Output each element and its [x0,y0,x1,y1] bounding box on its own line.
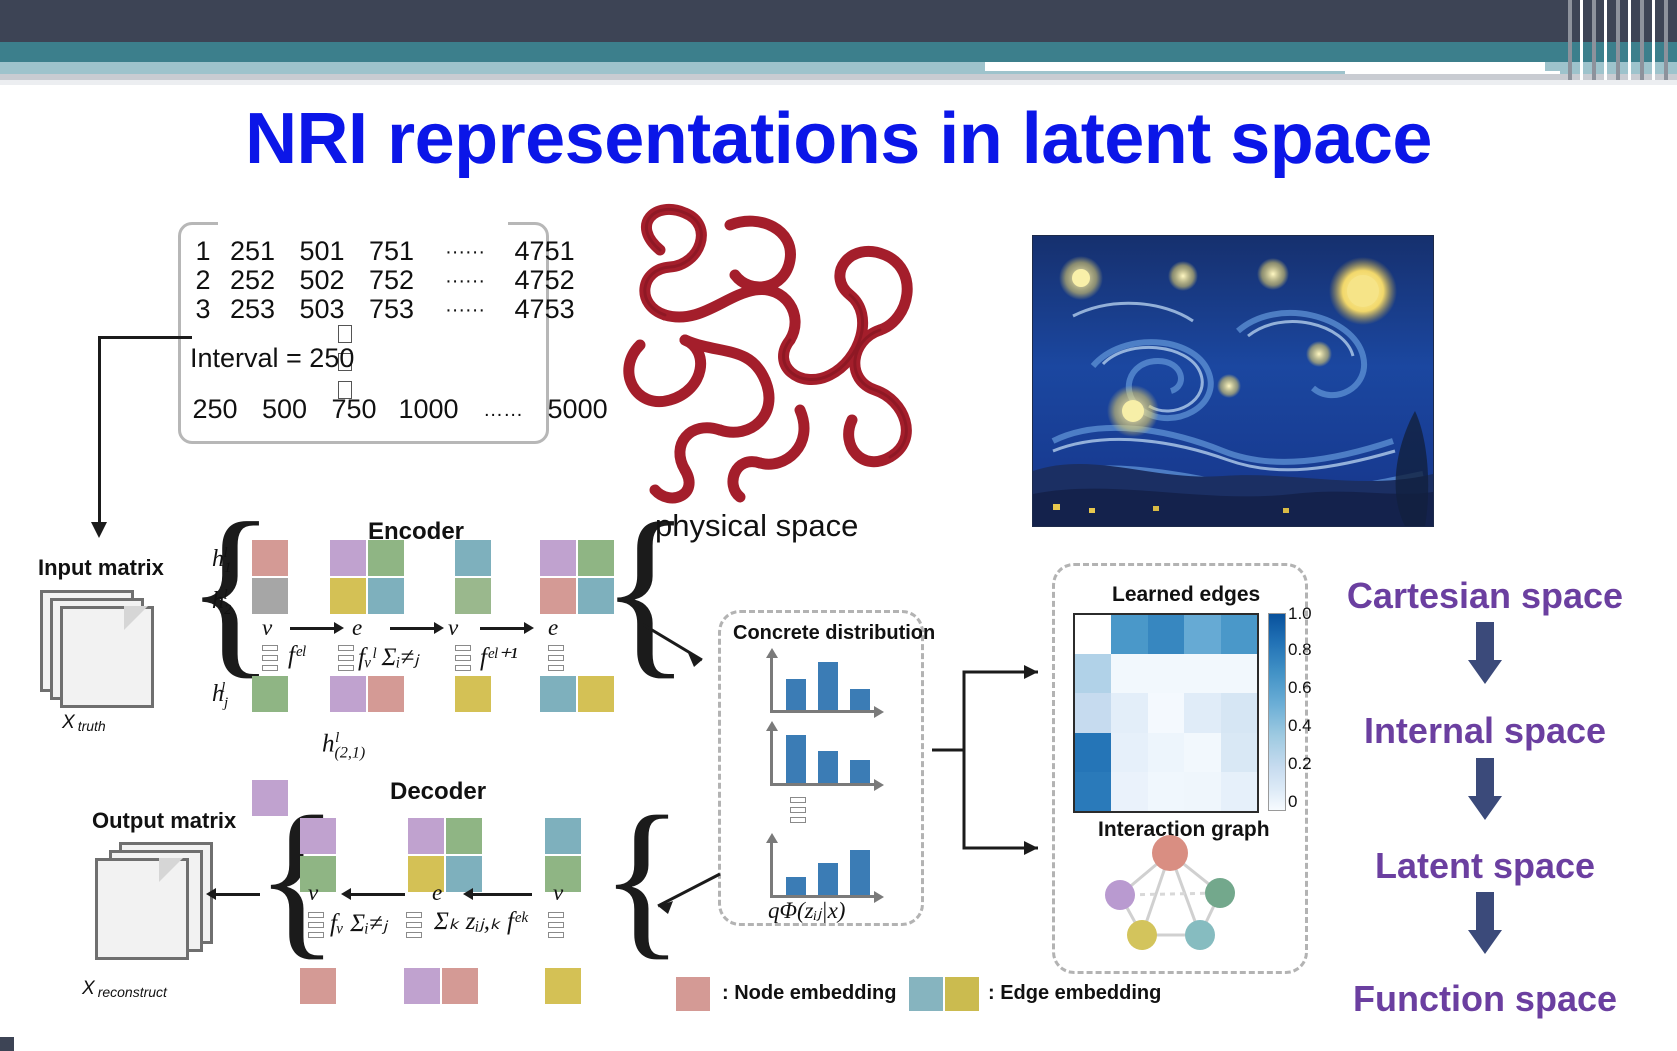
matrix-ellipsis: ······ [430,299,500,322]
colorbar-tick: 0.6 [1288,678,1312,698]
heatmap-cell [1184,654,1220,693]
matrix-ellipsis: …… [472,399,534,422]
band-tick-8 [1652,0,1655,80]
encoder-cell [252,578,288,614]
matrix-cell: 3 [192,294,214,325]
output-caption: Xreconstruct [82,978,167,1000]
legend-node-label: : Node embedding [722,982,896,1005]
heatmap-cell [1221,693,1257,732]
slide-root: NRI representations in latent space 1 25… [0,0,1677,1051]
heatmap-cell [1148,772,1184,811]
encoder-flow-arrow [480,627,525,630]
matrix-bracket-top-gap [218,218,508,228]
encoder-cell [330,676,366,712]
page-title: NRI representations in latent space [0,98,1677,180]
heatmap-cell [1111,772,1147,811]
encoder-row-label-h2: h2l [212,587,228,619]
encoder-function-label: fᵉˡ [288,642,305,670]
heatmap-cell [1111,654,1147,693]
top-band-grey-light [0,80,1677,85]
decoder-cell [545,968,581,1004]
heatmap-cell [1148,733,1184,772]
decoder-cell [404,968,440,1004]
band-tick-5 [1616,0,1620,80]
band-tick-6 [1628,0,1631,80]
encoder-flow-arrow [290,627,335,630]
band-tick-9 [1664,0,1668,80]
heatmap-cell [1111,733,1147,772]
heatmap-cell [1075,693,1111,732]
decoder-cell [446,818,482,854]
encoder-vdots [338,645,354,675]
decoder-cell [442,968,478,1004]
heatmap-cell [1184,772,1220,811]
legend-edge-swatch-a [909,977,943,1011]
matrix-cell: 252 [222,265,284,296]
encoder-cell [368,676,404,712]
encoder-vdots [262,645,278,675]
decoder-function-label: fᵥ Σᵢ≠ⱼ [330,908,387,938]
learned-edges-heatmap [1073,613,1259,813]
matrix-cell: 250 [184,394,246,425]
concrete-bar-chart [770,840,880,902]
concrete-bar-chart [770,728,880,790]
matrix-row-last: 250 500 750 1000 …… 5000 [184,394,614,425]
encoder-row-label-h1: h1l [212,545,228,577]
decoder-vdots [406,912,422,942]
decoder-cell [446,856,482,892]
matrix-ellipsis: ······ [430,270,500,293]
colorbar-tick: 0.2 [1288,754,1312,774]
physical-space-label: physical space [655,508,858,544]
heatmap-cell [1075,772,1111,811]
input-caption-sub: truth [78,718,106,734]
matrix-cell: 4752 [508,265,582,296]
matrix-cell: 753 [361,294,423,325]
heatmap-cell [1148,615,1184,654]
encoder-function-label: fᵥˡ Σᵢ≠ⱼ [358,642,419,672]
encoder-edge-label-h21: h(2,1)l [322,730,339,762]
band-tick-3 [1592,0,1596,80]
heatmap-cell [1075,615,1111,654]
decoder-vdots [308,912,324,942]
band-tick-7 [1640,0,1644,80]
encoder-row-label-hj: hjl [212,680,225,712]
colorbar-tick: 0.4 [1288,716,1312,736]
decoder-flow-arrow [350,893,405,896]
starry-night-painting [1032,235,1434,527]
colorbar-tick: 1.0 [1288,604,1312,624]
output-matrix-label: Output matrix [92,808,236,834]
matrix-cell: 752 [361,265,423,296]
output-caption-main: X [82,978,95,999]
legend-edge-label: : Edge embedding [988,982,1161,1005]
encoder-cell [455,578,491,614]
matrix-cell: 500 [254,394,316,425]
bottom-left-corner-mark [0,1037,14,1051]
decoder-function-label: Σₖ zᵢⱼ,ₖ fᵉᵏ [434,906,527,936]
decoder-stage-label: v [553,880,563,906]
concrete-to-edges-branch [930,630,1070,885]
decoder-vdots [548,912,564,942]
encoder-cell [330,540,366,576]
decoder-title: Decoder [390,778,486,806]
encoder-cell [368,578,404,614]
heatmap-cell [1111,693,1147,732]
decoder-to-output-arrow [215,893,260,896]
matrix-cell: 750 [323,394,385,425]
decoder-cell [300,818,336,854]
concrete-bar-chart [770,655,880,717]
matrix-to-input-connector-v [98,336,101,524]
encoder-cell [578,540,614,576]
legend-node-swatch [676,977,710,1011]
matrix-cell: 253 [222,294,284,325]
decoder-stage-label: e [432,880,442,906]
learned-edges-title: Learned edges [1112,583,1260,607]
concrete-to-decoder-arrow [640,868,730,933]
encoder-cell [540,676,576,712]
heatmap-cell [1075,733,1111,772]
encoder-vdots [455,645,471,675]
protein-structure-image [600,195,960,505]
encoder-to-concrete-arrow [640,620,730,685]
encoder-cell [540,540,576,576]
matrix-cell: 751 [361,236,423,267]
matrix-to-input-connector-h [98,336,192,339]
matrix-row: 1 251 501 751 ······ 4751 [192,236,582,267]
matrix-cell: 251 [222,236,284,267]
heatmap-colorbar [1268,613,1286,811]
encoder-cell [252,540,288,576]
heatmap-cell [1184,693,1220,732]
heatmap-cell [1075,654,1111,693]
top-band-dark [0,0,1677,42]
colorbar-tick: 0.8 [1288,640,1312,660]
matrix-cell: 1000 [393,394,465,425]
encoder-function-label: fᵉˡ⁺¹ [480,642,518,672]
band-tick-1 [1568,0,1572,80]
interaction-graph [1100,835,1240,950]
heatmap-cell [1221,615,1257,654]
input-matrix-label: Input matrix [38,555,164,581]
space-label-latent: Latent space [1320,845,1650,887]
matrix-cell: 4751 [508,236,582,267]
encoder-cell [252,676,288,712]
output-document-stack [95,842,235,962]
matrix-bracket-bottom-gap [218,444,508,454]
output-caption-sub: reconstruct [98,984,167,1000]
matrix-cell: 502 [291,265,353,296]
heatmap-cell [1111,615,1147,654]
legend-edge-swatch-b [945,977,979,1011]
matrix-row: 3 253 503 753 ······ 4753 [192,294,582,325]
matrix-cell: 501 [291,236,353,267]
colorbar-tick: 0 [1288,792,1297,812]
encoder-stage-label: e [352,615,362,641]
heatmap-cell [1184,615,1220,654]
decoder-flow-arrow [472,893,532,896]
document-fold-icon [159,858,183,882]
heatmap-cell [1184,733,1220,772]
encoder-cell [455,676,491,712]
heatmap-cell [1221,733,1257,772]
decoder-cell [408,818,444,854]
heatmap-cell [1148,654,1184,693]
encoder-cell [578,578,614,614]
heatmap-cell [1221,654,1257,693]
matrix-row: 2 252 502 752 ······ 4752 [192,265,582,296]
encoder-stage-label: v [448,615,458,641]
input-caption-main: X [62,712,75,733]
document-fold-icon [124,606,148,630]
encoder-stage-label: v [262,615,272,641]
band-tick-4 [1604,0,1607,80]
encoder-cell [330,578,366,614]
encoder-cell [368,540,404,576]
matrix-cell: 4753 [508,294,582,325]
encoder-cell [455,540,491,576]
space-label-cartesian: Cartesian space [1320,575,1650,617]
concrete-vdots [790,797,806,827]
heatmap-cell [1221,772,1257,811]
concrete-distribution-title: Concrete distribution [733,622,935,645]
space-label-function: Function space [1320,978,1650,1020]
matrix-to-input-arrowhead [91,522,107,538]
space-label-internal: Internal space [1320,710,1650,752]
matrix-cell: 2 [192,265,214,296]
input-document-stack [40,590,170,710]
interval-label: Interval = 250 [190,343,354,374]
concrete-formula: qΦ(zᵢⱼ|x) [768,898,845,924]
encoder-cell [578,676,614,712]
encoder-vdots [548,645,564,675]
matrix-cell: 503 [291,294,353,325]
decoder-cell [300,968,336,1004]
decoder-cell [545,818,581,854]
input-caption: Xtruth [62,712,106,734]
decoder-stage-label: v [308,880,318,906]
encoder-cell [540,578,576,614]
matrix-ellipsis: ······ [430,241,500,264]
top-band-white-stripe-1 [985,62,1545,71]
input-matrix-values-block: 1 251 501 751 ······ 4751 2 252 502 752 … [178,222,553,450]
encoder-stage-label: e [548,615,558,641]
band-tick-2 [1580,0,1583,80]
matrix-cell: 1 [192,236,214,267]
heatmap-cell [1148,693,1184,732]
encoder-flow-arrow [390,627,435,630]
